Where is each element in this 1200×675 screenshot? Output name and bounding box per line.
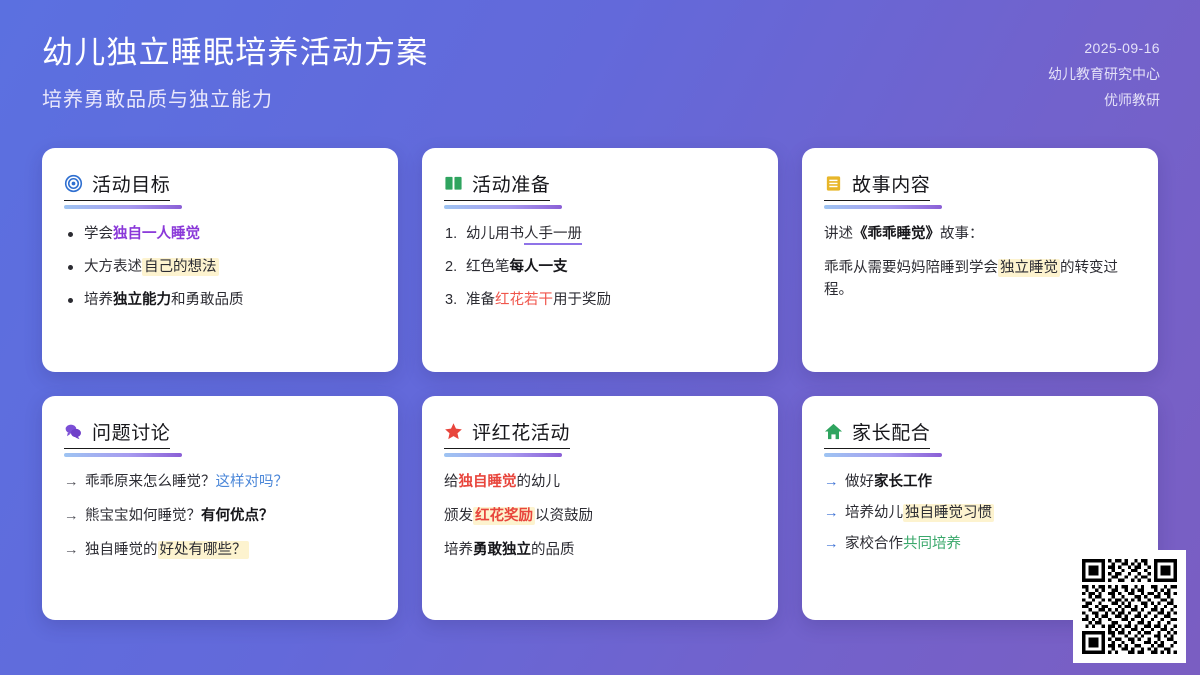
card-title: 活动准备	[472, 170, 550, 197]
page-title: 幼儿独立睡眠培养活动方案	[42, 34, 428, 73]
card-body: 乖乖原来怎么睡觉？这样对吗？熊宝宝如何睡觉？有何优点？独自睡觉的好处有哪些？	[64, 472, 376, 561]
slide-root: 幼儿独立睡眠培养活动方案 培养勇敢品质与独立能力 2025-09-16 幼儿教育…	[0, 0, 1200, 675]
card-body: 幼儿用书人手一册红色笔每人一支准备红花若干用于奖励	[444, 224, 756, 311]
card-body: 学会独自一人睡觉大方表述自己的想法培养独立能力和勇敢品质	[64, 224, 376, 311]
card-body: 给独自睡觉的幼儿颁发红花奖励以资鼓励培养勇敢独立的品质	[444, 472, 756, 561]
title-accent-bar	[64, 205, 182, 209]
card-header: 问题讨论	[64, 418, 170, 449]
text-run: 的品质	[531, 542, 575, 558]
list-item: 颁发红花奖励以资鼓励	[444, 506, 756, 528]
text-emphasis: 红花若干	[495, 292, 553, 308]
list-item: 乖乖从需要妈妈陪睡到学会独立睡觉的转变过程。	[824, 258, 1136, 302]
header-meta-block: 2025-09-16 幼儿教育研究中心 优师教研	[1048, 34, 1160, 111]
meta-date: 2025-09-16	[1084, 38, 1160, 59]
text-run: 培养幼儿	[845, 505, 903, 521]
text-run: 熊宝宝如何睡觉？	[85, 508, 201, 524]
text-emphasis: 红花奖励	[473, 507, 535, 525]
text-run: 独自睡觉的	[85, 542, 158, 558]
card-header: 活动准备	[444, 170, 550, 201]
card-list: 学会独自一人睡觉大方表述自己的想法培养独立能力和勇敢品质	[64, 224, 376, 311]
card-header: 家长配合	[824, 418, 930, 449]
text-emphasis: 人手一册	[524, 226, 582, 245]
text-emphasis: 家长工作	[874, 474, 932, 490]
card-title: 家长配合	[852, 418, 930, 445]
closed-book-icon	[824, 174, 843, 193]
list-item: 乖乖原来怎么睡觉？这样对吗？	[64, 472, 376, 494]
text-run: 幼儿用书	[466, 226, 524, 242]
text-emphasis: 这样对吗？	[216, 474, 289, 490]
text-run: 的幼儿	[517, 474, 561, 490]
card-question-discussion: 问题讨论乖乖原来怎么睡觉？这样对吗？熊宝宝如何睡觉？有何优点？独自睡觉的好处有哪…	[42, 396, 398, 620]
list-item: 做好家长工作	[824, 472, 1136, 494]
card-list: 做好家长工作培养幼儿独自睡觉习惯家校合作共同培养	[824, 472, 1136, 555]
card-header: 评红花活动	[444, 418, 570, 449]
text-emphasis: 勇敢独立	[473, 542, 531, 558]
card-list: 乖乖原来怎么睡觉？这样对吗？熊宝宝如何睡觉？有何优点？独自睡觉的好处有哪些？	[64, 472, 376, 561]
meta-organization: 幼儿教育研究中心	[1048, 64, 1160, 85]
text-run: 讲述	[824, 226, 853, 242]
card-title: 活动目标	[92, 170, 170, 197]
card-body: 讲述《乖乖睡觉》故事：乖乖从需要妈妈陪睡到学会独立睡觉的转变过程。	[824, 224, 1136, 301]
card-title: 故事内容	[852, 170, 930, 197]
card-grid: 活动目标学会独自一人睡觉大方表述自己的想法培养独立能力和勇敢品质活动准备幼儿用书…	[42, 148, 1159, 620]
list-item: 独自睡觉的好处有哪些？	[64, 540, 376, 562]
slide-header: 幼儿独立睡眠培养活动方案 培养勇敢品质与独立能力 2025-09-16 幼儿教育…	[0, 0, 1200, 132]
card-title: 评红花活动	[472, 418, 570, 445]
card-body: 做好家长工作培养幼儿独自睡觉习惯家校合作共同培养	[824, 472, 1136, 555]
target-icon	[64, 174, 83, 193]
text-run: 用于奖励	[553, 292, 611, 308]
title-accent-bar	[444, 453, 562, 457]
title-accent-bar	[64, 453, 182, 457]
text-emphasis: 独立睡觉	[998, 259, 1060, 277]
text-run: 给	[444, 474, 459, 490]
header-title-block: 幼儿独立睡眠培养活动方案 培养勇敢品质与独立能力	[42, 34, 428, 112]
text-emphasis: 独自睡觉习惯	[903, 504, 994, 522]
card-title: 问题讨论	[92, 418, 170, 445]
card-activity-prep: 活动准备幼儿用书人手一册红色笔每人一支准备红花若干用于奖励	[422, 148, 778, 372]
text-emphasis: 有何优点？	[201, 508, 274, 524]
list-item: 给独自睡觉的幼儿	[444, 472, 756, 494]
text-emphasis: 自己的想法	[142, 258, 219, 276]
meta-team: 优师教研	[1104, 90, 1160, 111]
open-book-icon	[444, 174, 463, 193]
title-accent-bar	[824, 453, 942, 457]
card-header: 故事内容	[824, 170, 930, 201]
text-run: 准备	[466, 292, 495, 308]
card-header: 活动目标	[64, 170, 170, 201]
text-run: 做好	[845, 474, 874, 490]
qr-code[interactable]	[1073, 550, 1186, 663]
text-run: 家校合作	[845, 536, 903, 552]
card-story-content: 故事内容讲述《乖乖睡觉》故事：乖乖从需要妈妈陪睡到学会独立睡觉的转变过程。	[802, 148, 1158, 372]
text-run: 和勇敢品质	[171, 292, 244, 308]
list-item: 幼儿用书人手一册	[444, 224, 756, 246]
list-item: 学会独自一人睡觉	[64, 224, 376, 246]
card-list: 幼儿用书人手一册红色笔每人一支准备红花若干用于奖励	[444, 224, 756, 311]
card-activity-goal: 活动目标学会独自一人睡觉大方表述自己的想法培养独立能力和勇敢品质	[42, 148, 398, 372]
text-run: 培养	[444, 542, 473, 558]
house-icon	[824, 422, 843, 441]
text-run: 颁发	[444, 508, 473, 524]
card-list: 给独自睡觉的幼儿颁发红花奖励以资鼓励培养勇敢独立的品质	[444, 472, 756, 561]
text-emphasis: 《乖乖睡觉》	[853, 226, 940, 242]
text-emphasis: 共同培养	[903, 536, 961, 552]
list-item: 大方表述自己的想法	[64, 257, 376, 279]
card-list: 讲述《乖乖睡觉》故事：乖乖从需要妈妈陪睡到学会独立睡觉的转变过程。	[824, 224, 1136, 301]
list-item: 讲述《乖乖睡觉》故事：	[824, 224, 1136, 246]
title-accent-bar	[444, 205, 562, 209]
star-icon	[444, 422, 463, 441]
text-emphasis: 每人一支	[510, 259, 568, 275]
text-run: 以资鼓励	[535, 508, 593, 524]
list-item: 熊宝宝如何睡觉？有何优点？	[64, 506, 376, 528]
text-run: 培养	[84, 292, 113, 308]
page-subtitle: 培养勇敢品质与独立能力	[42, 83, 428, 112]
card-red-flower-activity: 评红花活动给独自睡觉的幼儿颁发红花奖励以资鼓励培养勇敢独立的品质	[422, 396, 778, 620]
text-run: 红色笔	[466, 259, 510, 275]
title-accent-bar	[824, 205, 942, 209]
text-run: 大方表述	[84, 259, 142, 275]
text-emphasis: 好处有哪些？	[158, 541, 249, 559]
text-run: 乖乖从需要妈妈陪睡到学会	[824, 260, 998, 276]
list-item: 培养独立能力和勇敢品质	[64, 290, 376, 312]
text-run: 乖乖原来怎么睡觉？	[85, 474, 216, 490]
text-emphasis: 独自一人睡觉	[113, 226, 200, 242]
list-item: 培养幼儿独自睡觉习惯	[824, 503, 1136, 525]
text-run: 学会	[84, 226, 113, 242]
text-emphasis: 独立能力	[113, 292, 171, 308]
text-emphasis: 独自睡觉	[459, 474, 517, 490]
list-item: 准备红花若干用于奖励	[444, 290, 756, 312]
list-item: 培养勇敢独立的品质	[444, 540, 756, 562]
list-item: 红色笔每人一支	[444, 257, 756, 279]
text-run: 故事：	[940, 226, 984, 242]
speech-bubbles-icon	[64, 422, 83, 441]
